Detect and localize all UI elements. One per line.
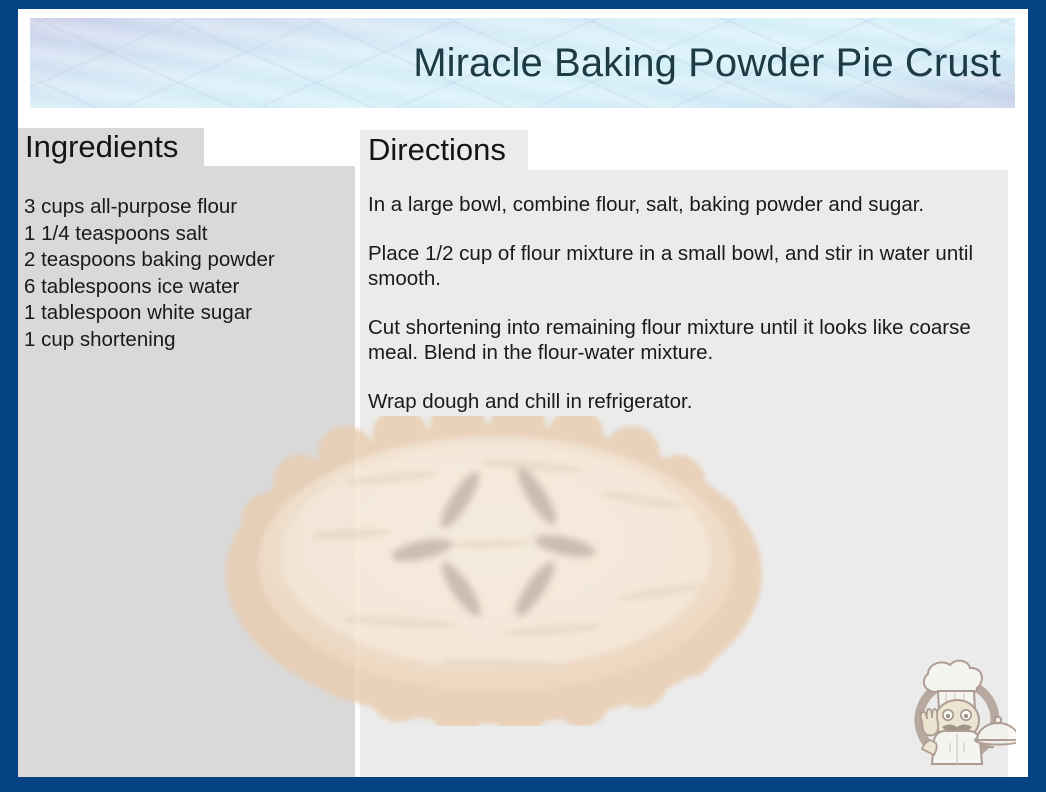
directions-steps: In a large bowl, combine flour, salt, ba… xyxy=(368,192,1008,438)
direction-step: In a large bowl, combine flour, salt, ba… xyxy=(368,192,1008,217)
list-item: 1 tablespoon white sugar xyxy=(24,300,351,327)
directions-section-heading: Directions xyxy=(360,130,528,170)
direction-step: Cut shortening into remaining flour mixt… xyxy=(368,315,1008,365)
directions-heading-label: Directions xyxy=(368,132,506,168)
ingredients-list: 3 cups all-purpose flour 1 1/4 teaspoons… xyxy=(24,194,351,353)
direction-step: Wrap dough and chill in refrigerator. xyxy=(368,389,1008,414)
list-item: 1 cup shortening xyxy=(24,327,351,354)
list-item: 2 teaspoons baking powder xyxy=(24,247,351,274)
header-banner: Miracle Baking Powder Pie Crust xyxy=(30,18,1015,108)
directions-panel: In a large bowl, combine flour, salt, ba… xyxy=(360,170,1008,777)
ingredients-section-heading: Ingredients xyxy=(18,128,204,166)
list-item: 6 tablespoons ice water xyxy=(24,274,351,301)
direction-step: Place 1/2 cup of flour mixture in a smal… xyxy=(368,241,1008,291)
list-item: 3 cups all-purpose flour xyxy=(24,194,351,221)
ingredients-panel: 3 cups all-purpose flour 1 1/4 teaspoons… xyxy=(18,166,355,777)
recipe-card: Miracle Baking Powder Pie Crust Ingredie… xyxy=(0,0,1046,792)
ingredients-heading-label: Ingredients xyxy=(25,129,178,165)
frame-border-left xyxy=(0,0,18,792)
page-title: Miracle Baking Powder Pie Crust xyxy=(413,41,1001,85)
frame-border-bottom xyxy=(0,777,1046,792)
frame-border-top xyxy=(0,0,1046,9)
list-item: 1 1/4 teaspoons salt xyxy=(24,221,351,248)
frame-border-right xyxy=(1028,0,1046,792)
